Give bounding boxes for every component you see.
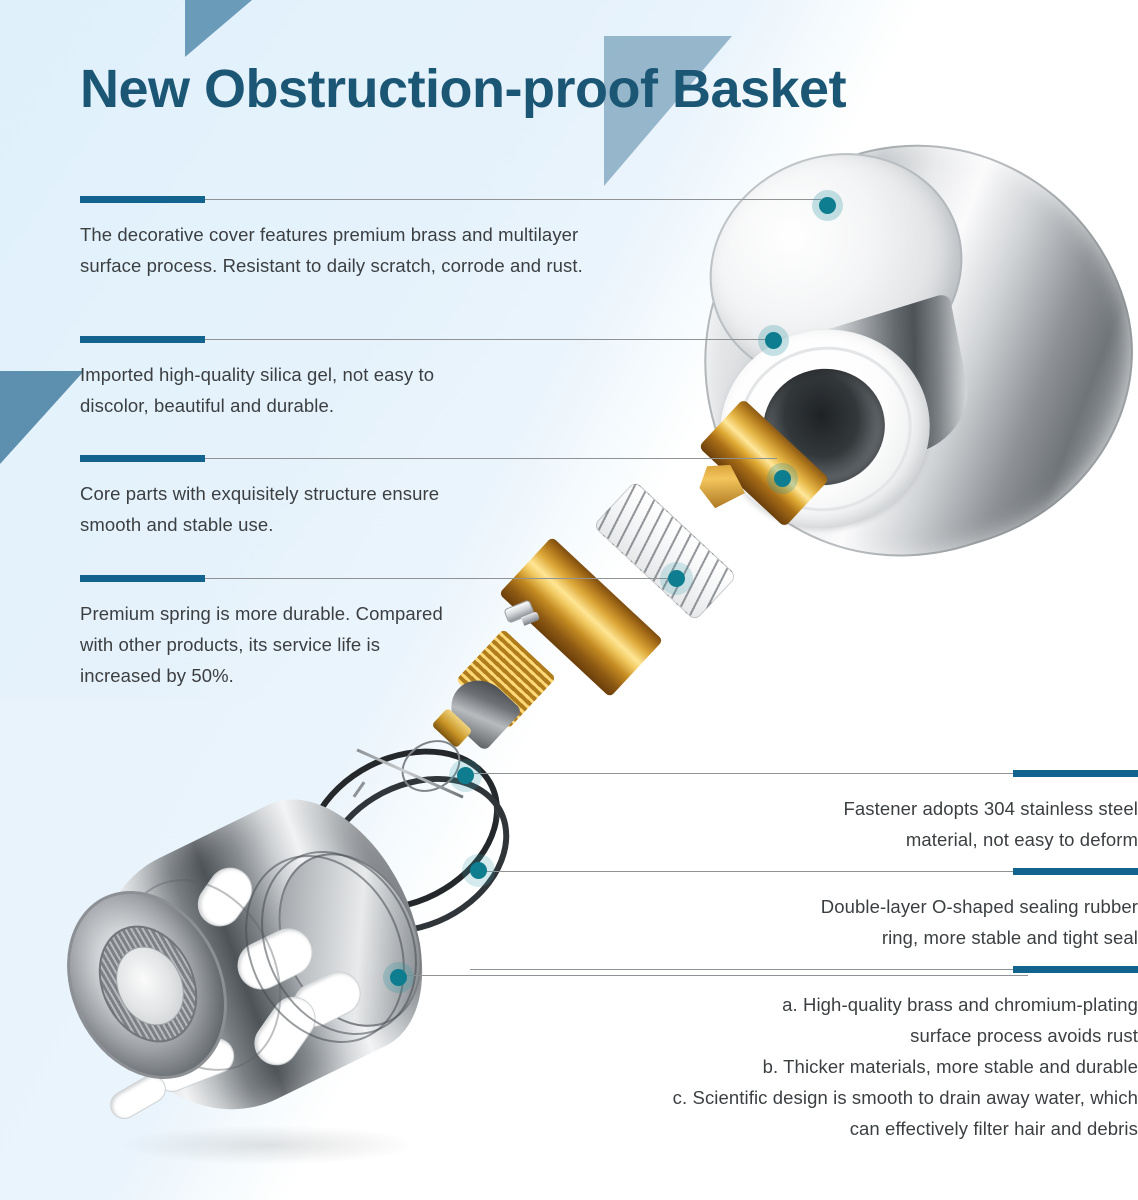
callout-accent-tab [1013,868,1138,875]
callout-rule [80,575,520,582]
callout-rule [80,455,655,462]
callout-rule [80,336,655,343]
page-title: New Obstruction-proof Basket [80,56,846,122]
decorative-cover-dot[interactable] [819,197,836,214]
callout-accent-tab [80,336,205,343]
callout-sealing-ring: Double-layer O-shaped sealing rubber rin… [560,868,1138,953]
callout-text: Premium spring is more durable. Compared… [80,598,520,691]
callout-line: a. High-quality brass and chromium-plati… [470,989,1138,1020]
core-parts-dot[interactable] [774,470,791,487]
callout-text: Double-layer O-shaped sealing rubber rin… [560,891,1138,953]
callout-text: a. High-quality brass and chromium-plati… [470,989,1138,1144]
callout-line: The decorative cover features premium br… [80,219,655,250]
callout-decorative-cover: The decorative cover features premium br… [80,196,655,281]
callout-rule [470,966,1138,973]
callout-line: Double-layer O-shaped sealing rubber [560,891,1138,922]
fastener-dot[interactable] [457,767,474,784]
callout-line: b. Thicker materials, more stable and du… [470,1051,1138,1082]
callout-line: surface process. Resistant to daily scra… [80,250,655,281]
callout-accent-tab [1013,770,1138,777]
callout-line: discolor, beautiful and durable. [80,390,655,421]
basket-shadow [118,1125,418,1165]
triangle-decor-left-middle [0,371,84,464]
callout-line: material, not easy to deform [560,824,1138,855]
callout-accent-tab [80,455,205,462]
callout-line: can effectively filter hair and debris [470,1113,1138,1144]
callout-line: ring, more stable and tight seal [560,922,1138,953]
callout-text: The decorative cover features premium br… [80,219,655,281]
sealing-ring-dot[interactable] [470,862,487,879]
basket-dot[interactable] [390,969,407,986]
callout-rule [560,770,1138,777]
callout-rule [560,868,1138,875]
callout-line: Core parts with exquisitely structure en… [80,478,655,509]
callout-text: Imported high-quality silica gel, not ea… [80,359,655,421]
callout-text: Fastener adopts 304 stainless steel mate… [560,793,1138,855]
callout-line: Premium spring is more durable. Compared [80,598,520,629]
callout-line: c. Scientific design is smooth to drain … [470,1082,1138,1113]
callout-line: Imported high-quality silica gel, not ea… [80,359,655,390]
silica-gel-dot[interactable] [765,332,782,349]
callout-silica-gel: Imported high-quality silica gel, not ea… [80,336,655,421]
callout-accent-tab [1013,966,1138,973]
infographic-page: New Obstruction-proof Basket [0,0,1138,1200]
callout-line: Fastener adopts 304 stainless steel [560,793,1138,824]
callout-line: smooth and stable use. [80,509,655,540]
triangle-decor-top-left [185,0,252,57]
callout-fastener: Fastener adopts 304 stainless steel mate… [560,770,1138,855]
chrome-filter-basket [58,795,458,1185]
callout-text: Core parts with exquisitely structure en… [80,478,655,540]
callout-premium-spring: Premium spring is more durable. Compared… [80,575,520,691]
callout-line: with other products, its service life is [80,629,520,660]
callout-core-parts: Core parts with exquisitely structure en… [80,455,655,540]
spring-dot[interactable] [668,570,685,587]
callout-accent-tab [80,196,205,203]
callout-line: surface process avoids rust [470,1020,1138,1051]
callout-rule [80,196,655,203]
callout-accent-tab [80,575,205,582]
callout-line: increased by 50%. [80,660,520,691]
callout-basket-features: a. High-quality brass and chromium-plati… [470,966,1138,1144]
